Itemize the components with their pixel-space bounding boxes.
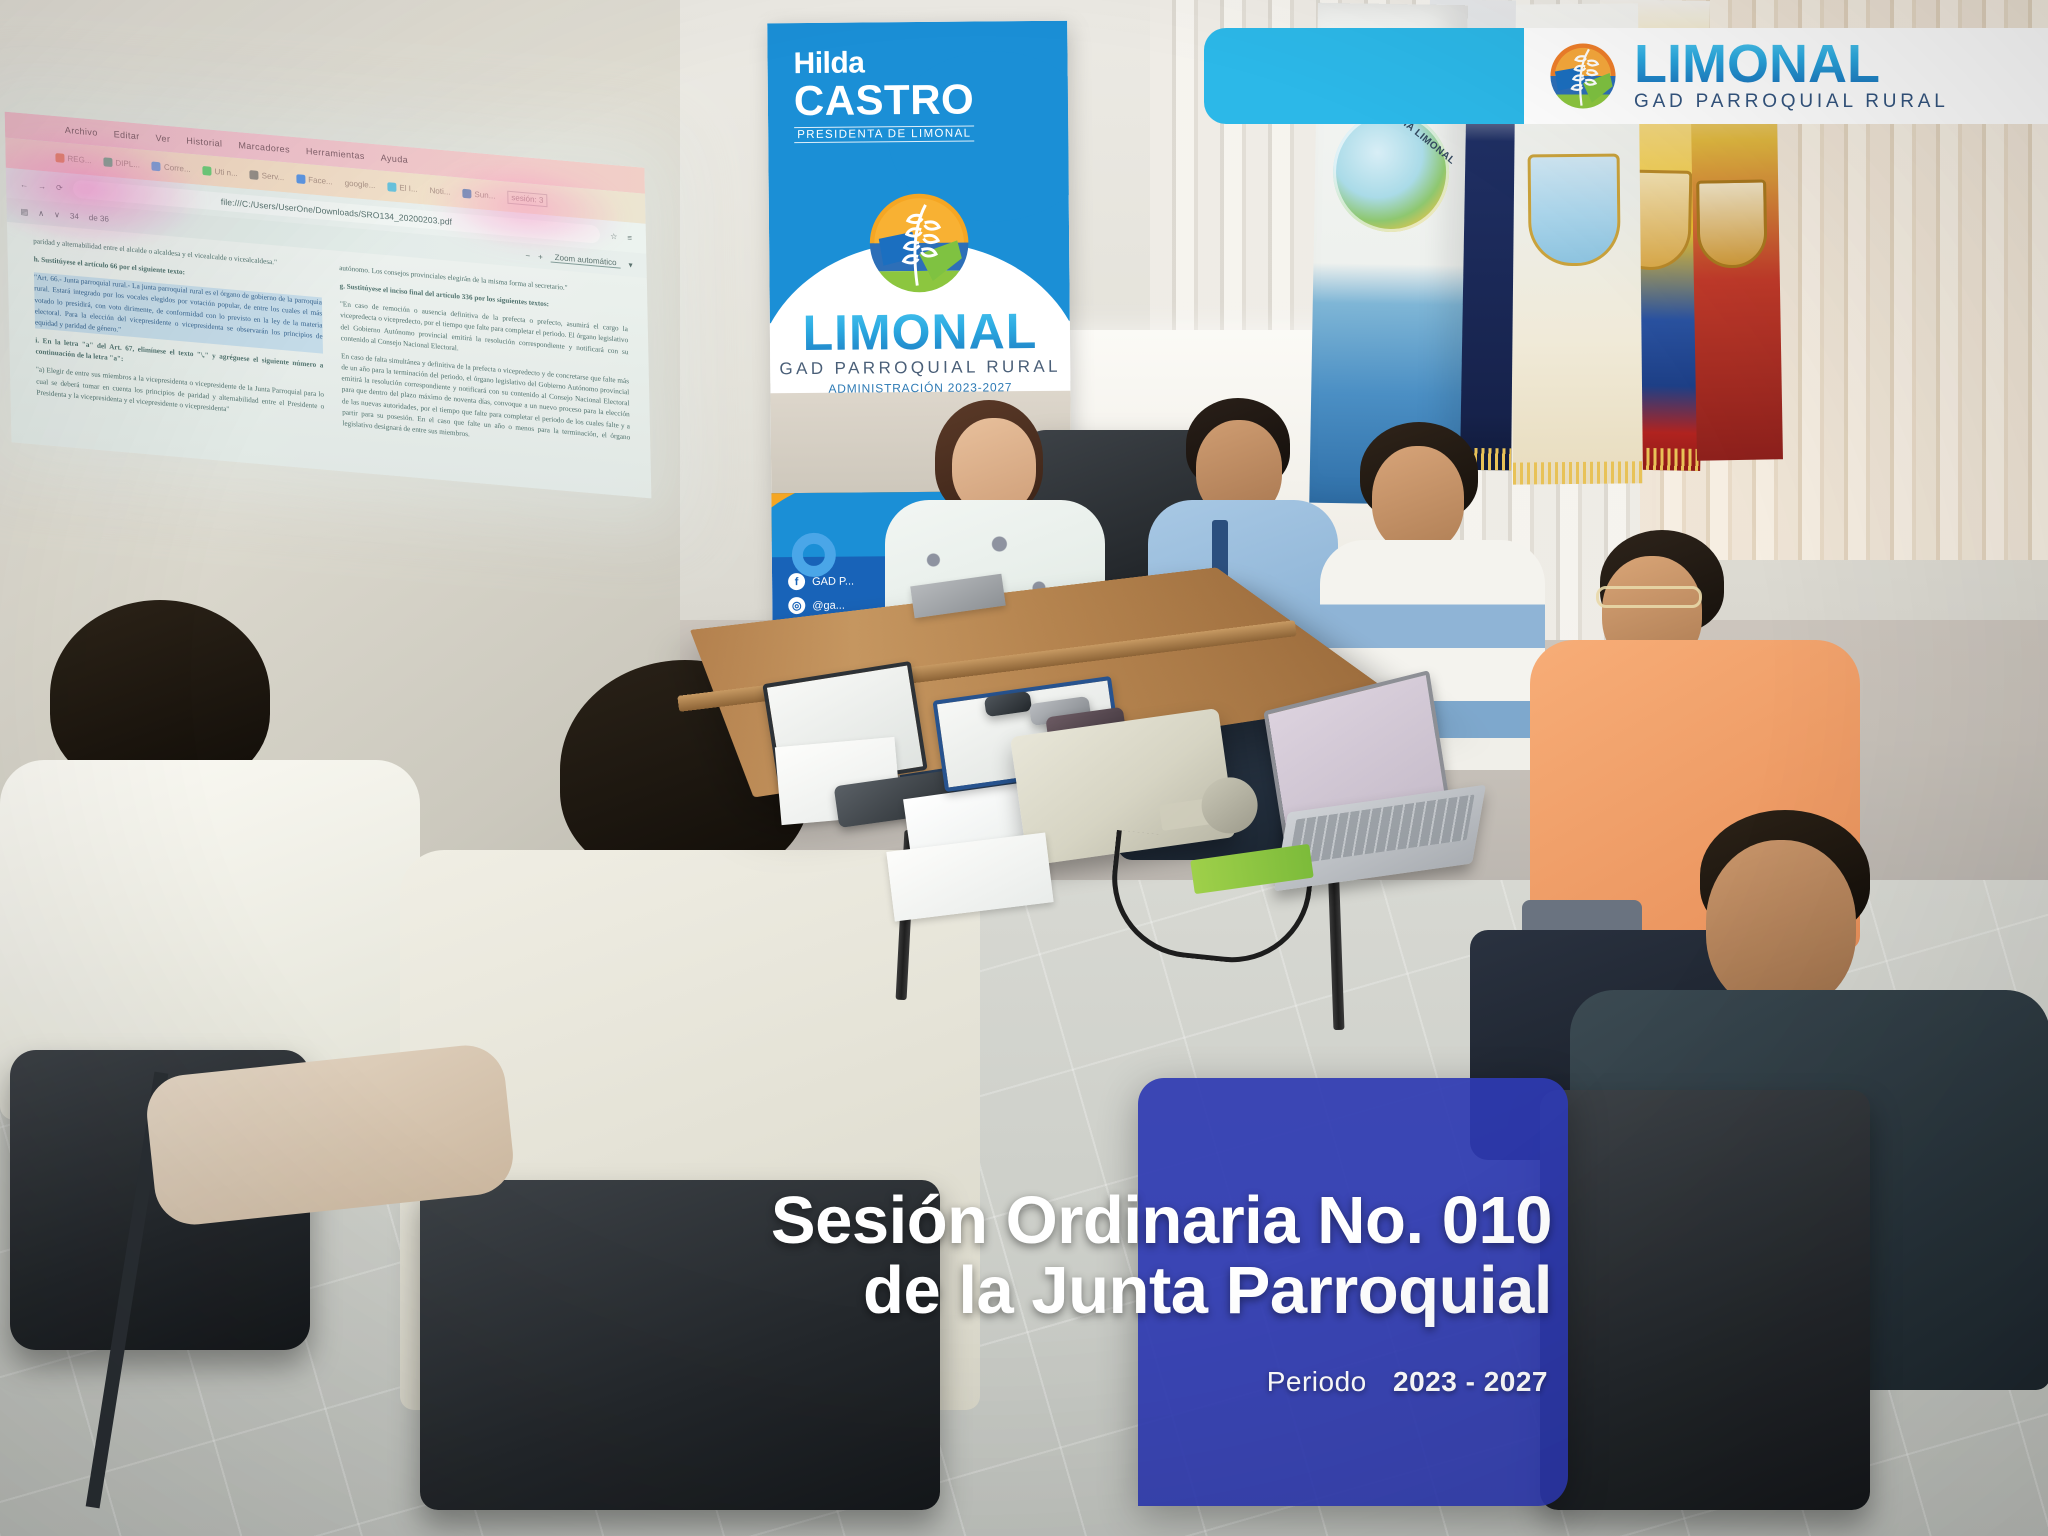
- sidebar-toggle-icon[interactable]: ▤: [21, 207, 29, 217]
- banner-logo-wordmark: LIMONAL: [770, 306, 1070, 359]
- caption-period-label: Periodo: [1267, 1366, 1367, 1397]
- pdf-left-column: paridad y alternabilidad entre el alcald…: [33, 236, 325, 470]
- menu-item-marcadores[interactable]: Marcadores: [238, 140, 290, 155]
- caption-line-1: Sesión Ordinaria No. 010: [493, 1186, 1552, 1256]
- menu-item-herramientas[interactable]: Herramientas: [306, 146, 365, 161]
- zoom-level-select[interactable]: Zoom automático: [551, 253, 621, 269]
- logo-subtitle: GAD PARROQUIAL RURAL: [1634, 91, 1949, 113]
- caption-period: Periodo 2023 - 2027: [493, 1366, 1568, 1398]
- bookmark-item[interactable]: Uti n...: [202, 165, 237, 177]
- bookmark-item[interactable]: Corre...: [152, 161, 191, 173]
- bookmark-item[interactable]: google...: [345, 178, 376, 190]
- back-arrow-icon[interactable]: ←: [20, 179, 28, 189]
- menu-item-ver[interactable]: Ver: [155, 133, 170, 144]
- menu-item-ayuda[interactable]: Ayuda: [381, 153, 409, 165]
- banner-role-label: PRESIDENTA DE LIMONAL: [794, 126, 974, 144]
- pdf-paragraph: En caso de falta simultánea y definitiva…: [341, 351, 631, 455]
- bookmark-item[interactable]: El I...: [387, 182, 417, 194]
- province-coat-of-arms: [1528, 154, 1621, 267]
- bookmark-item[interactable]: Noti...: [429, 185, 450, 196]
- emblem-caption: PARROQUIA LIMONAL: [1342, 125, 1440, 223]
- bookmark-item[interactable]: Sun...: [462, 188, 495, 200]
- flag-fringe: [1513, 461, 1643, 484]
- banner-first-name: Hilda: [793, 48, 974, 80]
- menu-icon[interactable]: ≡: [627, 233, 632, 242]
- chevron-down-icon[interactable]: ▾: [628, 260, 632, 269]
- head: [1706, 840, 1856, 1010]
- projector-vent: [1026, 743, 1101, 796]
- pdf-right-column: autónomo. Los consejos provinciales eleg…: [339, 263, 631, 497]
- caption-line-2: de la Junta Parroquial: [493, 1256, 1552, 1326]
- menu-item-archivo[interactable]: Archivo: [65, 125, 98, 138]
- screenshot-root: Archivo Editar Ver Historial Marcadores …: [0, 0, 2048, 1536]
- projector-screen: Archivo Editar Ver Historial Marcadores …: [5, 112, 652, 499]
- limonal-logo-badge: LIMONAL GAD PARROQUIAL RURAL: [1204, 28, 2048, 124]
- banner-administration-label: ADMINISTRACIÓN 2023-2027: [770, 380, 1070, 397]
- banner-person-name: Hilda CASTRO PRESIDENTA DE LIMONAL: [793, 48, 974, 144]
- instagram-icon: ◎: [788, 597, 805, 614]
- bookmark-item[interactable]: Serv...: [250, 170, 285, 182]
- office-chair: [1540, 1090, 1870, 1510]
- caption-period-value: 2023 - 2027: [1393, 1366, 1548, 1397]
- page-number-input[interactable]: 34: [70, 211, 79, 221]
- bookmark-session-badge[interactable]: sesión: 3: [507, 190, 547, 207]
- caption-title: Sesión Ordinaria No. 010 de la Junta Par…: [493, 1186, 1568, 1325]
- page-up-icon[interactable]: ∧: [38, 208, 44, 218]
- social-row-facebook[interactable]: f GAD P...: [788, 573, 854, 591]
- logo-white-block: LIMONAL GAD PARROQUIAL RURAL: [1524, 28, 2048, 124]
- bookmark-star-icon[interactable]: ☆: [610, 231, 617, 241]
- page-down-icon[interactable]: ∨: [54, 209, 60, 219]
- zoom-in-button[interactable]: +: [538, 252, 543, 261]
- bookmark-item[interactable]: Face...: [296, 174, 333, 186]
- limonal-emblem-icon: [1546, 39, 1620, 113]
- bookmark-item[interactable]: REG...: [55, 153, 91, 165]
- logo-wordmark: LIMONAL: [1634, 39, 1949, 90]
- caption-panel: Sesión Ordinaria No. 010 de la Junta Par…: [1138, 1078, 1568, 1506]
- banner-ring-graphic: [792, 533, 836, 577]
- banner-last-name: CASTRO: [794, 79, 975, 123]
- zoom-out-button[interactable]: −: [525, 251, 530, 260]
- banner-logo-subtitle: GAD PARROQUIAL RURAL: [770, 357, 1070, 380]
- menu-item-historial[interactable]: Historial: [186, 136, 222, 149]
- bookmark-item[interactable]: DIPL...: [103, 157, 140, 169]
- forward-arrow-icon[interactable]: →: [38, 181, 46, 191]
- limonal-emblem-icon: [863, 187, 976, 300]
- pdf-zoom-controls: − + Zoom automático ▾: [525, 250, 632, 269]
- banner-logo-block: LIMONAL GAD PARROQUIAL RURAL ADMINISTRAC…: [769, 186, 1071, 397]
- logo-text-block: LIMONAL GAD PARROQUIAL RURAL: [1634, 39, 1949, 114]
- page-total-label: de 36: [89, 213, 109, 224]
- reload-icon[interactable]: ⟳: [56, 183, 63, 193]
- logo-cyan-block: [1204, 28, 1524, 124]
- eyeglasses-icon: [1596, 586, 1702, 608]
- head: [1372, 446, 1464, 552]
- facebook-icon: f: [788, 573, 805, 590]
- social-handle: @ga...: [812, 599, 845, 611]
- social-handle: GAD P...: [812, 575, 854, 587]
- menu-item-editar[interactable]: Editar: [114, 129, 140, 141]
